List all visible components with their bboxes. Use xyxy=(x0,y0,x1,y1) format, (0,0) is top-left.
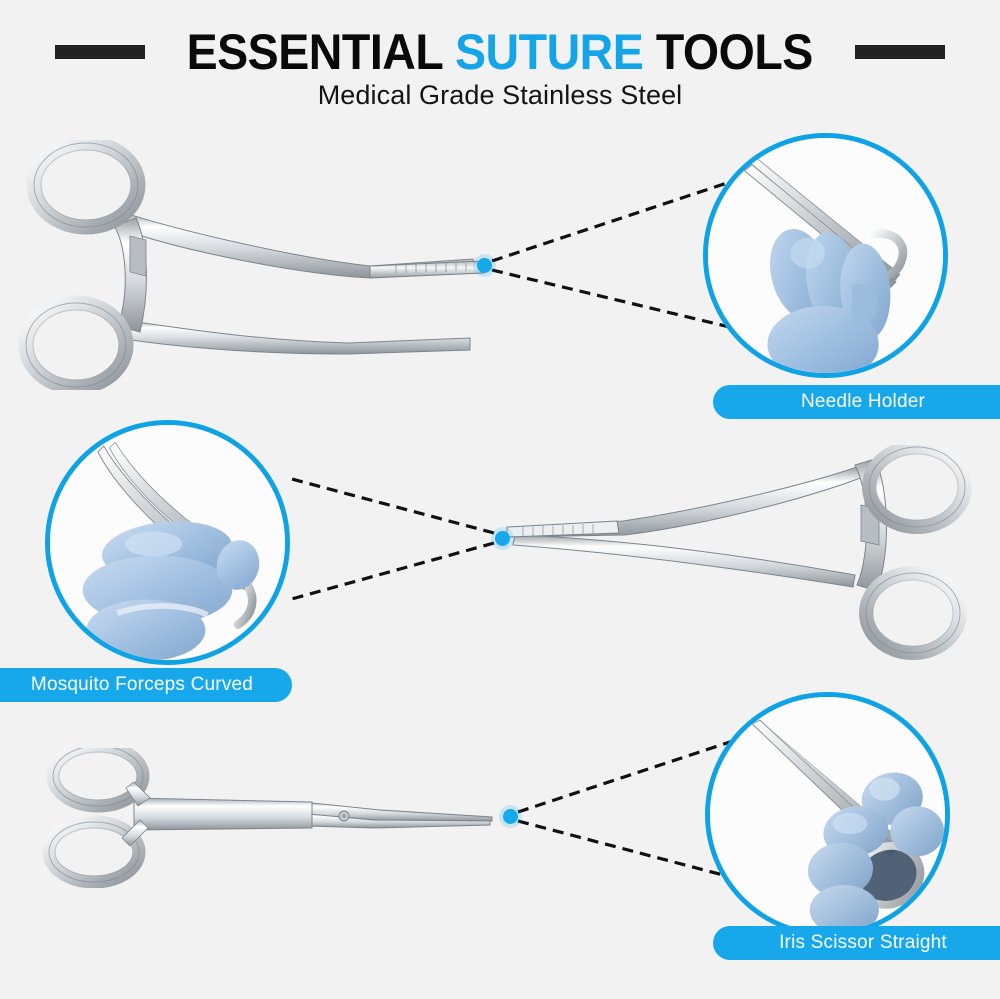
mosquito-forceps-instrument xyxy=(505,445,975,660)
badge-needle-holder: Needle Holder xyxy=(713,385,1000,419)
iris-scissor-photo xyxy=(710,697,945,932)
iris-scissor-instrument xyxy=(22,748,512,888)
connector-line-mosquito-upper xyxy=(288,478,494,533)
badge-label-mosquito-forceps: Mosquito Forceps Curved xyxy=(31,674,253,695)
needle-holder-photo xyxy=(708,138,943,373)
needle-holder-instrument xyxy=(18,140,498,390)
connector-line-mosquito-lower xyxy=(288,543,494,600)
needle-holder-callout xyxy=(703,133,948,378)
infographic-canvas: ESSENTIAL SUTURE TOOLS Medical Grade Sta… xyxy=(0,0,1000,999)
badge-mosquito-forceps: Mosquito Forceps Curved xyxy=(0,668,292,702)
badge-label-needle-holder: Needle Holder xyxy=(801,391,925,412)
anchor-dot-needle-holder xyxy=(477,258,492,273)
anchor-dot-mosquito-forceps xyxy=(495,531,510,546)
badge-iris-scissor: Iris Scissor Straight xyxy=(713,926,1000,960)
anchor-dot-iris-scissor xyxy=(503,809,518,824)
mosquito-forceps-photo xyxy=(50,425,285,660)
mosquito-forceps-callout xyxy=(45,420,290,665)
iris-scissor-callout xyxy=(705,692,950,937)
badge-label-iris-scissor: Iris Scissor Straight xyxy=(779,932,947,953)
